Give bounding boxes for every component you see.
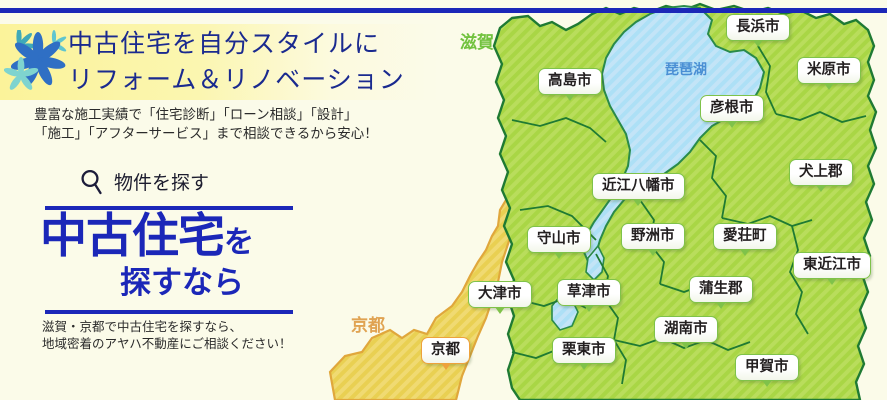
property-search-label: 物件を探す — [114, 168, 209, 195]
map-pin-5[interactable]: 近江八幡市 — [592, 173, 685, 200]
map-pin-11[interactable]: 草津市 — [557, 279, 621, 306]
map-pin-7[interactable]: 野洲市 — [621, 223, 685, 250]
map-label-shiga: 滋賀 — [460, 28, 494, 53]
promo-subtext-line-1: 豊富な施工実績で「住宅診断」「ローン相談」「設計」 — [34, 106, 434, 125]
map-pin-14[interactable]: 栗東市 — [552, 337, 616, 364]
map-pin-3[interactable]: 彦根市 — [700, 95, 764, 122]
map-pin-1[interactable]: 米原市 — [797, 57, 861, 84]
promo-footnote-line-2: 地域密着のアヤハ不動産にご相談ください！ — [42, 335, 292, 352]
map-pin-10[interactable]: 大津市 — [468, 281, 532, 308]
map-pin-8[interactable]: 愛荘町 — [713, 223, 777, 250]
magnifier-icon — [80, 169, 104, 195]
map-pin-2[interactable]: 高島市 — [538, 68, 602, 95]
promo-subtext-line-2: 「施工」「アフターサービス」まで相談できるから安心！ — [34, 125, 434, 144]
promo-banner-subtext: 豊富な施工実績で「住宅診断」「ローン相談」「設計」 「施工」「アフターサービス」… — [34, 106, 434, 144]
promo-banner-headline: 中古住宅を自分スタイルに リフォーム＆リノベーション — [68, 26, 440, 98]
promo-footnote: 滋賀・京都で中古住宅を探すなら、 地域密着のアヤハ不動産にご相談ください！ — [42, 318, 292, 352]
headline-primary-particle: を — [224, 225, 253, 260]
map-pin-9[interactable]: 東近江市 — [793, 252, 871, 279]
headline-primary: 中古住宅を — [40, 212, 253, 268]
map-pin-15[interactable]: 甲賀市 — [735, 354, 799, 381]
map-pin-12[interactable]: 蒲生郡 — [689, 276, 753, 303]
flower-decoration-icon — [4, 30, 70, 92]
map-label-kyoto: 京都 — [351, 311, 385, 336]
top-blue-divider — [0, 8, 887, 13]
promo-banner-line-1: 中古住宅を自分スタイルに — [68, 26, 440, 62]
promo-banner-line-2: リフォーム＆リノベーション — [68, 62, 440, 98]
map-pin-0[interactable]: 長浜市 — [726, 14, 790, 41]
headline-secondary: 探すなら — [120, 266, 244, 300]
map-label-biwako: 琵琶湖 — [665, 59, 707, 79]
map-pin-4[interactable]: 犬上郡 — [789, 159, 853, 186]
headline-rule-bottom — [45, 310, 293, 314]
headline-primary-main: 中古住宅 — [40, 209, 224, 264]
property-search-link[interactable]: 物件を探す — [80, 168, 209, 195]
map-pin-6[interactable]: 守山市 — [527, 226, 591, 253]
map-pin-16[interactable]: 京都 — [421, 337, 470, 364]
promo-footnote-line-1: 滋賀・京都で中古住宅を探すなら、 — [42, 318, 292, 335]
map-pin-13[interactable]: 湖南市 — [654, 316, 718, 343]
